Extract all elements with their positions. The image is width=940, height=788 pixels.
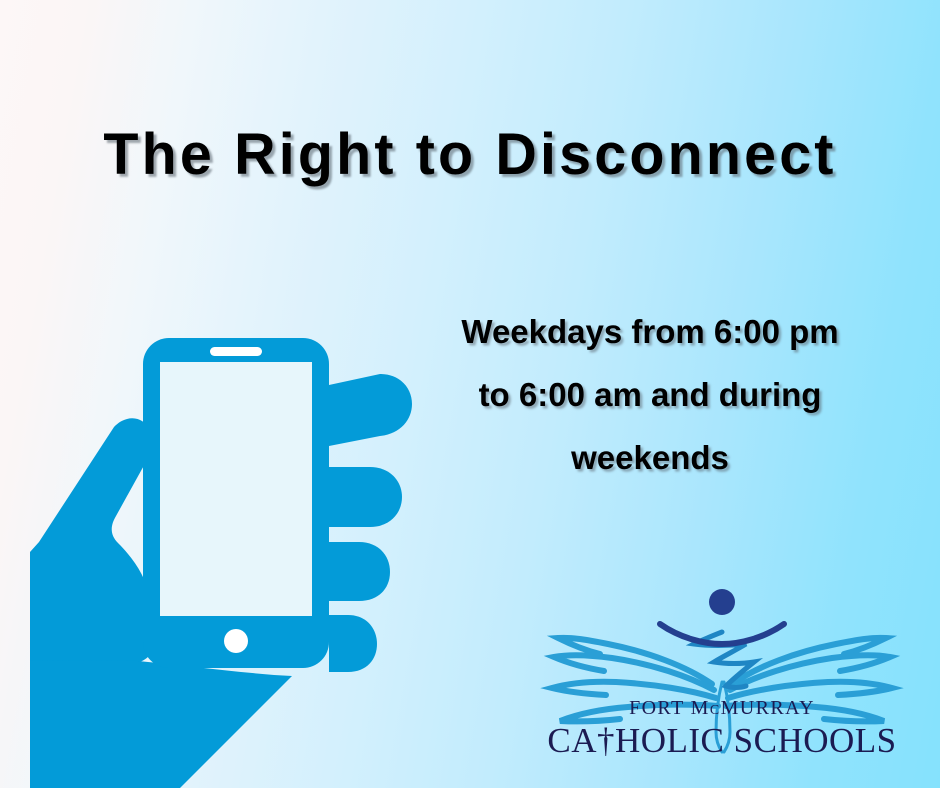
finger-tips xyxy=(329,374,412,672)
logo-line-1-small-c: C xyxy=(710,703,721,718)
page-title: The Right to Disconnect xyxy=(5,124,936,186)
figure-mark xyxy=(660,589,784,644)
logo-line-1: FORT MCMURRAY xyxy=(629,697,815,719)
phone-home-button xyxy=(224,629,248,653)
logo-cross-icon: † xyxy=(597,721,615,760)
logo-line-1-murray: MURRAY xyxy=(721,697,815,719)
left-wing-stroke-3 xyxy=(552,682,716,698)
middle-finger-tip xyxy=(329,467,402,527)
phone-earpiece-speaker xyxy=(210,347,262,356)
fort-mcmurray-catholic-schools-logo: FORT MCMURRAY CA†HOLIC SCHOOLS xyxy=(536,580,908,760)
figure-head-dot xyxy=(709,589,735,615)
poster-canvas: The Right to Disconnect Weekdays from 6:… xyxy=(0,0,940,788)
logo-line-2-ca: CA xyxy=(547,721,597,760)
logo-line-2-rest: HOLIC SCHOOLS xyxy=(615,721,897,760)
smartphone xyxy=(143,338,329,668)
hand-holding-smartphone-illustration xyxy=(30,330,430,788)
index-finger-tip xyxy=(329,374,412,446)
right-wing-stroke-3 xyxy=(728,682,892,698)
ring-finger-tip xyxy=(329,542,390,601)
logo-line-2: CA†HOLIC SCHOOLS xyxy=(547,721,896,760)
schedule-text-block: Weekdays from 6:00 pm to 6:00 am and dur… xyxy=(392,300,908,489)
logo-line-1-fort: FORT M xyxy=(629,697,710,719)
schedule-line-1: Weekdays from 6:00 pm xyxy=(392,300,908,363)
little-finger-tip xyxy=(329,615,377,672)
phone-screen xyxy=(160,362,312,616)
schedule-line-2: to 6:00 am and during xyxy=(392,363,908,426)
schedule-line-3: weekends xyxy=(392,426,908,489)
lower-palm-path xyxy=(30,660,292,788)
